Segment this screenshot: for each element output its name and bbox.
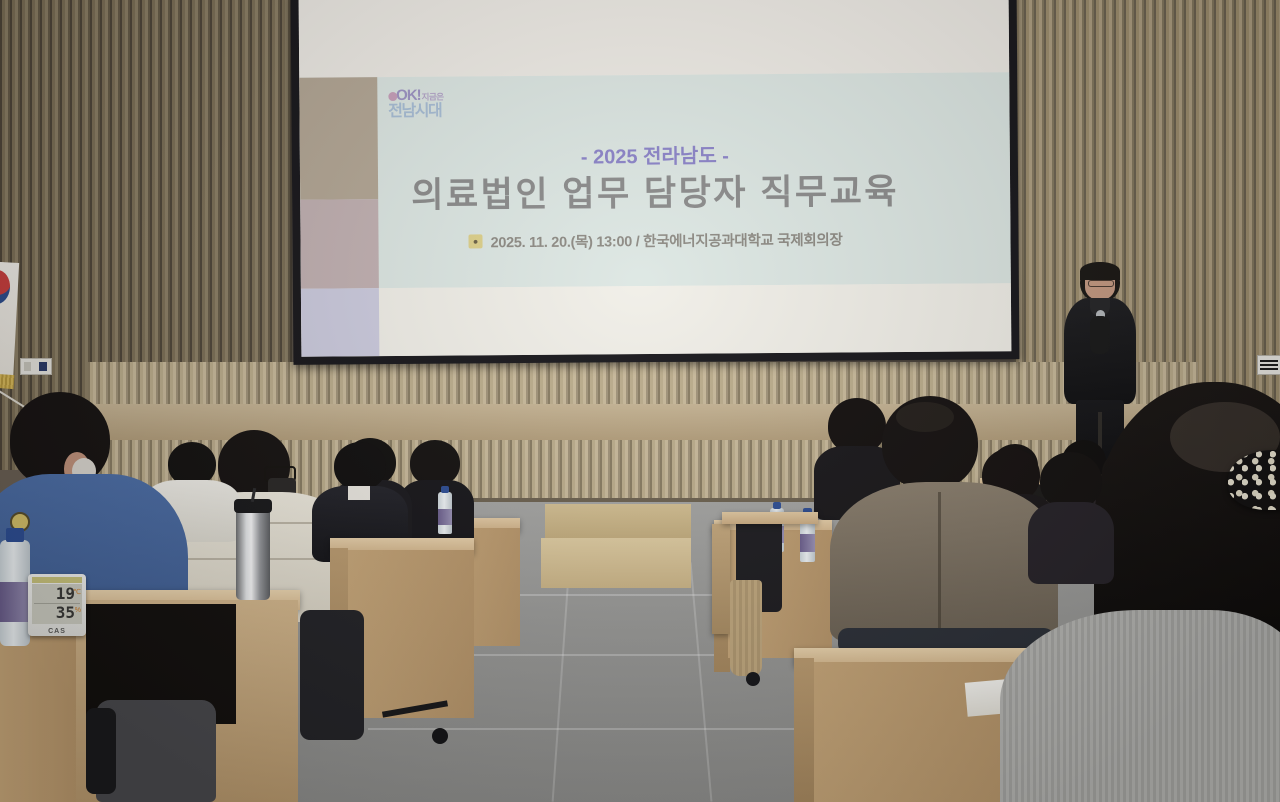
- heart-icon: [388, 92, 397, 101]
- step-upper: [545, 504, 691, 542]
- slide-bottom-band: [301, 283, 1012, 357]
- slide-title: 의료법인 업무 담당자 직무교육: [300, 162, 1010, 219]
- slide-color-block-lavender: [301, 288, 380, 357]
- presenter-arm-right: [1090, 316, 1110, 354]
- slide-top-band: [299, 0, 1010, 78]
- bottle-label: [438, 509, 452, 525]
- desk-left-mid-face: [348, 550, 474, 718]
- thermo-humidity-unit: %: [75, 607, 81, 614]
- bottle-cap: [6, 528, 24, 542]
- logo-tagline: 지금은: [422, 92, 444, 101]
- outlet-socket-icon: [39, 362, 47, 371]
- desk-center-far: [712, 524, 730, 634]
- chair-caster-icon: [432, 728, 448, 744]
- step-lower: [541, 538, 691, 588]
- bottle-cap: [773, 502, 781, 509]
- wall-outlet-right[interactable]: [1257, 355, 1280, 375]
- jeonnam-brand-logo: OK! 지금은 전남시대: [388, 87, 444, 119]
- person-head: [334, 442, 386, 490]
- slide-surface: OK! 지금은 전남시대 - 2025 전라남도 - 의료법인 업무 담당자 직…: [299, 0, 1012, 357]
- thermo-brand-label: CAS: [28, 628, 86, 635]
- jeonnam-mascot-icon: ●: [469, 235, 483, 249]
- floor-seam-vertical: [552, 562, 571, 802]
- thermo-top-strip: [32, 577, 82, 583]
- slide-date-text: 2025. 11. 20.(목) 13:00 / 한국에너지공과대학교 국제회의…: [490, 228, 842, 252]
- korean-flag: [0, 262, 32, 402]
- thermo-lcd: 19 ℃ 35 %: [32, 584, 82, 624]
- thermo-humidity-value: 35: [56, 605, 75, 621]
- outlet-marks-icon: [1260, 359, 1278, 370]
- thermo-hygrometer: 19 ℃ 35 % CAS: [28, 574, 86, 636]
- bottle-cap: [441, 486, 449, 493]
- thermo-temperature-unit: ℃: [73, 588, 81, 596]
- bottle-label: [0, 582, 30, 622]
- chair-caster-icon: [746, 672, 760, 686]
- logo-ok-text: OK!: [396, 88, 421, 103]
- logo-line-ok: OK! 지금은: [388, 87, 444, 102]
- chair-armrest-icon: [86, 708, 116, 794]
- coat-draped: [730, 580, 762, 676]
- wooden-step-platform: [541, 504, 691, 592]
- person-sweater: [1000, 610, 1280, 802]
- desk-far-center-right: [722, 512, 818, 524]
- person-body: [1028, 502, 1114, 584]
- water-bottle-left-a: [438, 492, 452, 534]
- suit-seam: [938, 492, 941, 630]
- floor-seam-vertical: [690, 562, 713, 801]
- person-hair-highlight: [896, 402, 954, 432]
- water-bottle-foreground-left: [0, 540, 30, 646]
- bottle-label: [800, 534, 815, 552]
- lecture-hall-photo: OK! 지금은 전남시대 - 2025 전라남도 - 의료법인 업무 담당자 직…: [0, 0, 1280, 802]
- stainless-tumbler: [236, 508, 270, 600]
- presenter-glasses-icon: [1088, 280, 1114, 287]
- chair-left-mid: [300, 610, 364, 740]
- projection-screen: OK! 지금은 전남시대 - 2025 전라남도 - 의료법인 업무 담당자 직…: [291, 0, 1020, 365]
- thermo-temperature-value: 19: [56, 586, 75, 602]
- logo-line-jeonnam: 전남시대: [388, 103, 444, 119]
- presenter-hair-front: [1080, 262, 1120, 280]
- flag-fringe: [0, 373, 14, 389]
- desk-right-front-side: [794, 658, 814, 802]
- shirt-collar: [348, 486, 370, 500]
- person-body: [830, 482, 1058, 642]
